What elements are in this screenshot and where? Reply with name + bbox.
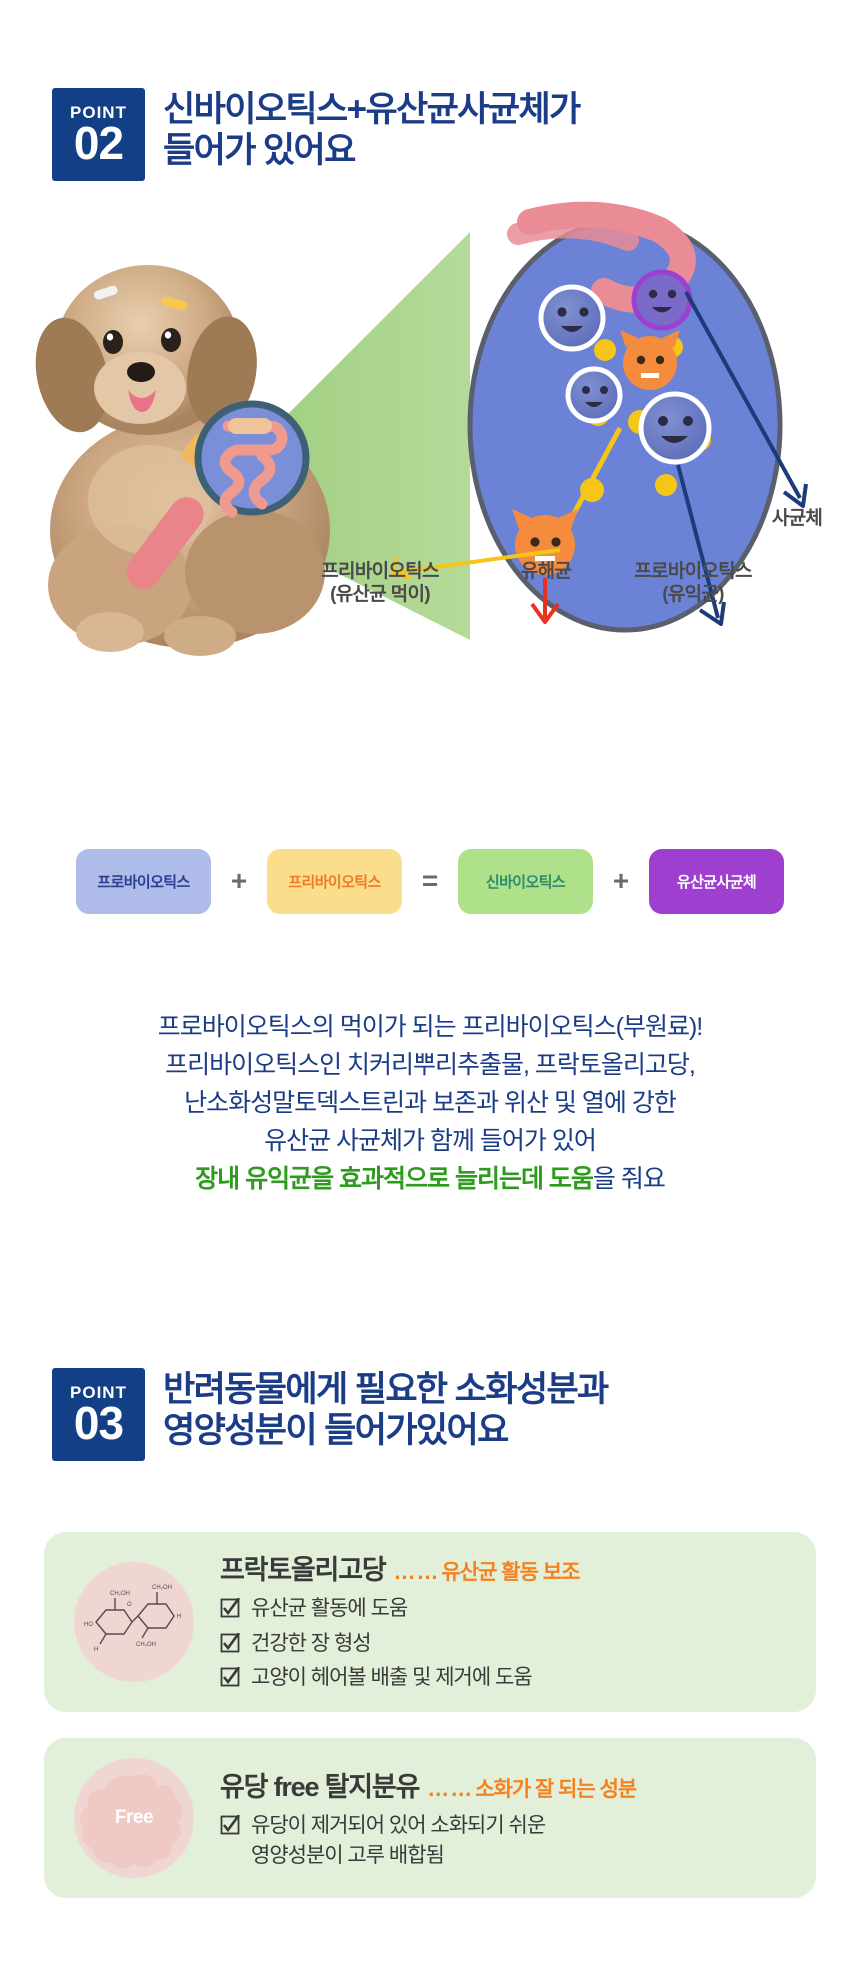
svg-text:H: H xyxy=(177,1614,181,1620)
point-03-title: 반려동물에게 필요한 소화성분과 영양성분이 들어가있어요 xyxy=(163,1368,608,1451)
card-2-title: 유당 free 탈지분유 xyxy=(220,1765,419,1804)
synbiotics-equation-row: 프로바이오틱스 + 프리바이오틱스 = 신바이오틱스 + 유산균사균체 xyxy=(0,843,860,919)
equation-box-probiotics: 프로바이오틱스 xyxy=(76,849,211,914)
paragraph-highlight: 장내 유익균을 효과적으로 늘리는데 도움 xyxy=(195,1165,593,1193)
point-03-title-line-1: 반려동물에게 필요한 소화성분과 xyxy=(163,1370,608,1411)
svg-text:CH₂OH: CH₂OH xyxy=(152,1585,172,1591)
label-prebiotics-line-2: (유산균 먹이) xyxy=(330,584,430,605)
label-postbiotics: 사균체 xyxy=(752,507,842,530)
check-box-icon xyxy=(220,1597,242,1627)
svg-text:CH₂OH: CH₂OH xyxy=(110,1591,130,1597)
label-probiotics-line-2: (유익균) xyxy=(662,584,724,605)
free-milk-icon: Free xyxy=(74,1758,194,1878)
list-item: 고양이 헤어볼 배출 및 제거에 도움 xyxy=(220,1663,579,1696)
card-1-title: 프락토올리고당 xyxy=(220,1548,385,1587)
paragraph-line-4: 유산균 사균체가 함께 들어가 있어 xyxy=(0,1122,860,1160)
label-prebiotics: 프리바이오틱스 (유산균 먹이) xyxy=(305,560,455,606)
list-item: 유산균 활동에 도움 xyxy=(220,1594,579,1627)
svg-text:O: O xyxy=(127,1602,132,1608)
molecule-structure-svg: CH₂OH CH₂OH HO H CH₂OH H O xyxy=(82,1576,186,1668)
point-02-badge: POINT 02 xyxy=(52,88,145,181)
svg-text:HO: HO xyxy=(84,1622,93,1628)
label-probiotics-line-1: 프로바이오틱스 xyxy=(634,561,751,582)
list-item-text: 유산균 활동에 도움 xyxy=(251,1594,407,1624)
card-1-title-row: 프락토올리고당 …… 유산균 활동 보조 xyxy=(220,1548,579,1587)
free-label: Free xyxy=(115,1807,153,1829)
card-1-body: 프락토올리고당 …… 유산균 활동 보조 유산균 활동에 도움 xyxy=(220,1548,595,1696)
equation-operator-equals: = xyxy=(402,867,458,895)
list-item-text: 유당이 제거되어 있어 소화되기 쉬운 영양성분이 고루 배합됨 xyxy=(251,1811,545,1871)
list-item-text: 고양이 헤어볼 배출 및 제거에 도움 xyxy=(251,1663,532,1693)
equation-box-prebiotics: 프리바이오틱스 xyxy=(267,849,402,914)
label-prebiotics-line-1: 프리바이오틱스 xyxy=(321,561,438,582)
paragraph-line-1: 프로바이오틱스의 먹이가 되는 프리바이오틱스(부원료)! xyxy=(0,1008,860,1046)
food-dot xyxy=(655,474,677,496)
point-03-header: POINT 03 반려동물에게 필요한 소화성분과 영양성분이 들어가있어요 xyxy=(52,1368,608,1461)
good-bacteria xyxy=(568,369,620,421)
dead-bacteria-postbiotic xyxy=(634,272,690,328)
list-item-text-line-1: 유당이 제거되어 있어 소화되기 쉬운 xyxy=(251,1811,545,1841)
molecule-diagram-icon: CH₂OH CH₂OH HO H CH₂OH H O xyxy=(74,1562,194,1682)
card-1-dots: …… xyxy=(393,1559,439,1585)
check-box-icon xyxy=(220,1666,242,1696)
check-box-icon xyxy=(220,1814,242,1844)
list-item: 건강한 장 형성 xyxy=(220,1629,579,1662)
ingredient-card-fructooligosaccharide: CH₂OH CH₂OH HO H CH₂OH H O 프락토올리고당 …… 유산… xyxy=(44,1532,816,1712)
food-dot xyxy=(594,339,616,361)
svg-text:CH₂OH: CH₂OH xyxy=(136,1642,156,1648)
equation-operator-plus-2: + xyxy=(593,867,649,895)
label-probiotics: 프로바이오틱스 (유익균) xyxy=(608,560,778,606)
equation-operator-plus-1: + xyxy=(211,867,267,895)
card-2-tagline: 소화가 잘 되는 성분 xyxy=(475,1773,636,1803)
point-03-title-line-2: 영양성분이 들어가있어요 xyxy=(163,1411,608,1452)
list-item: 유당이 제거되어 있어 소화되기 쉬운 영양성분이 고루 배합됨 xyxy=(220,1811,636,1871)
point-03-badge: POINT 03 xyxy=(52,1368,145,1461)
list-item-text: 건강한 장 형성 xyxy=(251,1629,371,1659)
gut-microbiome-illustration: 프리바이오틱스 (유산균 먹이) 유해균 프로바이오틱스 (유익균) 사균체 xyxy=(0,200,860,670)
point-03-badge-number: 03 xyxy=(74,1402,123,1444)
paragraph-line-3: 난소화성말토덱스트린과 보존과 위산 및 열에 강한 xyxy=(0,1084,860,1122)
ingredient-card-lactose-free-milk: Free 유당 free 탈지분유 …… 소화가 잘 되는 성분 유당 xyxy=(44,1738,816,1898)
point-02-header: POINT 02 신바이오틱스+유산균사균체가 들어가 있어요 xyxy=(52,88,580,181)
card-1-tagline: 유산균 활동 보조 xyxy=(441,1556,579,1586)
point-02-title-line-1: 신바이오틱스+유산균사균체가 xyxy=(163,90,580,131)
good-bacteria xyxy=(641,394,709,462)
card-1-benefit-list: 유산균 활동에 도움 건강한 장 형성 xyxy=(220,1594,579,1696)
paragraph-line-5: 장내 유익균을 효과적으로 늘리는데 도움을 줘요 xyxy=(0,1160,860,1198)
point-02-badge-number: 02 xyxy=(74,122,123,164)
equation-box-postbiotics: 유산균사균체 xyxy=(649,849,784,914)
point-02-title: 신바이오틱스+유산균사균체가 들어가 있어요 xyxy=(163,88,580,171)
check-box-icon xyxy=(220,1632,242,1662)
paragraph-highlight-tail: 을 줘요 xyxy=(593,1165,665,1193)
card-2-dots: …… xyxy=(427,1776,473,1802)
label-harmful-bacteria: 유해균 xyxy=(476,560,616,583)
list-item-text-line-2: 영양성분이 고루 배합됨 xyxy=(251,1841,545,1871)
card-2-body: 유당 free 탈지분유 …… 소화가 잘 되는 성분 유당이 제거되어 있어 … xyxy=(220,1765,652,1871)
product-infographic-page: POINT 02 신바이오틱스+유산균사균체가 들어가 있어요 xyxy=(0,0,860,1984)
equation-box-synbiotics: 신바이오틱스 xyxy=(458,849,593,914)
svg-text:H: H xyxy=(94,1647,98,1653)
good-bacteria xyxy=(541,287,603,349)
paragraph-line-2: 프리바이오틱스인 치커리뿌리추출물, 프락토올리고당, xyxy=(0,1046,860,1084)
card-2-benefit-list: 유당이 제거되어 있어 소화되기 쉬운 영양성분이 고루 배합됨 xyxy=(220,1811,636,1871)
description-paragraph: 프로바이오틱스의 먹이가 되는 프리바이오틱스(부원료)! 프리바이오틱스인 치… xyxy=(0,1008,860,1198)
card-2-title-row: 유당 free 탈지분유 …… 소화가 잘 되는 성분 xyxy=(220,1765,636,1804)
point-02-title-line-2: 들어가 있어요 xyxy=(163,131,580,172)
